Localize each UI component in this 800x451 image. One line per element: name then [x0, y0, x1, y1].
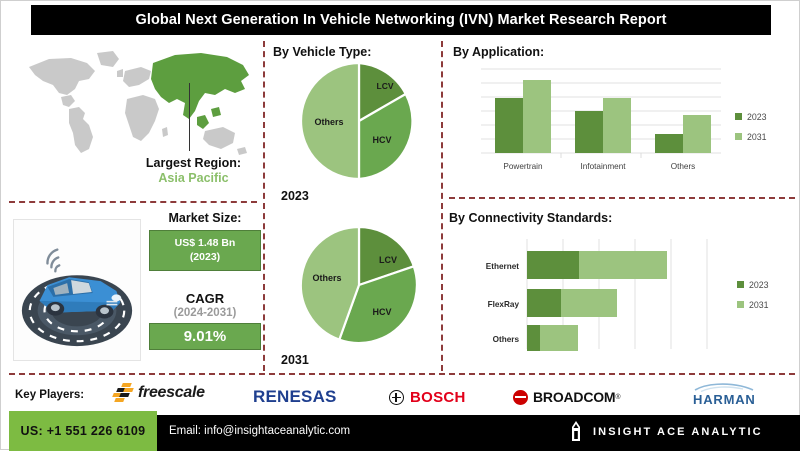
footer-brand-text: INSIGHT ACE ANALYTIC: [593, 426, 763, 438]
bosch-icon: [389, 390, 404, 405]
broadcom-trademark: ®: [615, 394, 620, 401]
pie-2023-label-hcv: HCV: [372, 135, 391, 145]
pie-chart-2023: LCV HCV Others: [289, 59, 429, 184]
bar-powertrain-2023: [495, 98, 523, 153]
pie-2023-label-others: Others: [314, 117, 343, 127]
page-title: Global Next Generation In Vehicle Networ…: [135, 12, 666, 28]
insight-ace-logo-icon: [569, 421, 583, 443]
bar-flexray-2023: [527, 289, 561, 317]
largest-region-block: Largest Region: Asia Pacific: [131, 156, 256, 185]
pie-2031-year: 2031: [281, 353, 309, 367]
bar-others-2031: [683, 115, 711, 153]
connected-car-illustration: [13, 219, 141, 361]
broadcom-icon: [513, 390, 528, 405]
title-banner: Global Next Generation In Vehicle Networ…: [31, 5, 771, 35]
conn-legend-label-2023: 2023: [749, 280, 769, 290]
conn-legend-label-2031: 2031: [749, 300, 769, 310]
harman-wordmark: HARMAN: [693, 392, 756, 407]
bosch-wordmark: BOSCH: [410, 389, 466, 406]
renesas-wordmark: RENESAS: [253, 387, 337, 407]
connectivity-bar-chart: Ethernet FlexRay Others 2023 2031: [449, 229, 797, 363]
footer-phone: US: +1 551 226 6109: [21, 424, 146, 438]
largest-region-label: Largest Region:: [131, 156, 256, 170]
divider-horizontal-bottom: [9, 373, 795, 375]
bar-powertrain-2031: [523, 80, 551, 153]
footer-brand: INSIGHT ACE ANALYTIC: [569, 421, 763, 443]
freescale-icon: [113, 383, 135, 403]
broadcom-wordmark: BROADCOM: [533, 389, 615, 405]
pie-2031-label-lcv: LCV: [379, 255, 397, 265]
divider-horizontal-left: [9, 201, 257, 203]
cagr-label: CAGR: [149, 291, 261, 306]
connectivity-heading: By Connectivity Standards:: [449, 211, 612, 225]
app-legend-swatch-2031: [735, 133, 742, 140]
footer-phone-badge: US: +1 551 226 6109: [9, 411, 157, 451]
conn-ylabel-flexray: FlexRay: [488, 300, 520, 309]
bar-ethernet-2023: [527, 251, 579, 279]
market-size-label: Market Size:: [149, 211, 261, 225]
conn-legend-swatch-2031: [737, 301, 744, 308]
vehicle-type-heading: By Vehicle Type:: [273, 45, 371, 59]
bar-flexray-2031: [561, 289, 617, 317]
logo-freescale: freescale: [113, 383, 205, 403]
application-heading: By Application:: [453, 45, 544, 59]
market-size-block: Market Size: US$ 1.48 Bn (2023) CAGR (20…: [149, 211, 261, 350]
app-legend-swatch-2023: [735, 113, 742, 120]
app-legend-label-2023: 2023: [747, 112, 767, 122]
pie-2023-year: 2023: [281, 189, 309, 203]
bar-infotainment-2031: [603, 98, 631, 153]
key-players-label: Key Players:: [15, 389, 84, 401]
bar-ethernet-2031: [579, 251, 667, 279]
divider-vertical-left: [263, 41, 265, 371]
pie-2031-label-others: Others: [312, 273, 341, 283]
application-bar-chart: Powertrain Infotainment Others 2023 2031: [449, 61, 797, 179]
pie-2031-label-hcv: HCV: [372, 307, 391, 317]
map-pointer-line: [189, 83, 190, 151]
logo-broadcom: BROADCOM ®: [513, 389, 621, 405]
divider-vertical-right: [441, 41, 443, 371]
world-map: [9, 45, 259, 160]
logo-harman: HARMAN: [693, 383, 756, 407]
bar-infotainment-2023: [575, 111, 603, 153]
market-size-badge: US$ 1.48 Bn (2023): [149, 230, 261, 271]
cagr-value-badge: 9.01%: [149, 323, 261, 350]
logo-bosch: BOSCH: [389, 389, 466, 406]
harman-swoosh-icon: [693, 383, 755, 392]
app-xlabel-powertrain: Powertrain: [503, 162, 543, 171]
pie-chart-2031: LCV HCV Others: [289, 223, 429, 348]
conn-legend-swatch-2023: [737, 281, 744, 288]
cagr-years: (2024-2031): [149, 307, 261, 319]
market-size-year: (2023): [154, 251, 256, 265]
app-xlabel-infotainment: Infotainment: [580, 162, 626, 171]
market-size-value: US$ 1.48 Bn: [154, 237, 256, 251]
divider-horizontal-right: [449, 197, 795, 199]
conn-ylabel-ethernet: Ethernet: [486, 262, 519, 271]
infographic-root: Global Next Generation In Vehicle Networ…: [0, 0, 800, 450]
bar-conn-others-2031: [540, 325, 578, 351]
freescale-wordmark: freescale: [138, 384, 205, 402]
app-legend-label-2031: 2031: [747, 132, 767, 142]
bar-others-2023: [655, 134, 683, 153]
footer-email: Email: info@insightaceanalytic.com: [169, 425, 350, 437]
bar-conn-others-2023: [527, 325, 540, 351]
pie-2023-label-lcv: LCV: [377, 81, 394, 91]
largest-region-value: Asia Pacific: [131, 171, 256, 185]
logo-renesas: RENESAS: [253, 387, 337, 407]
app-xlabel-others: Others: [671, 162, 696, 171]
conn-ylabel-others: Others: [493, 335, 520, 344]
